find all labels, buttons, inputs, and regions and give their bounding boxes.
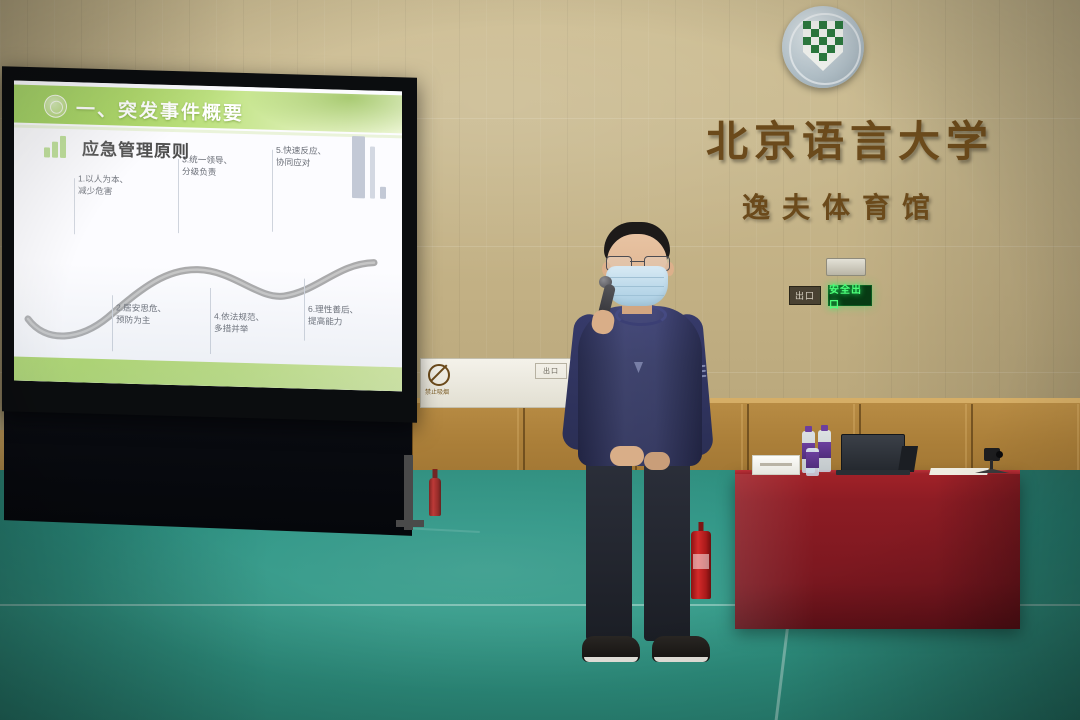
flow-wave-graphic <box>22 231 394 351</box>
presentation-slide: 一、突发事件概要 应急管理原则 <box>14 81 402 392</box>
small-exit-label: 出口 <box>543 366 559 376</box>
screen-leg <box>404 455 413 530</box>
papers-on-table <box>929 468 989 475</box>
no-smoking-label: 禁止吸烟 <box>425 387 449 396</box>
slide-section-title: 应急管理原则 <box>82 134 190 162</box>
label-tick <box>304 279 305 341</box>
principle-label-2: 2.居安思危、 预防为主 <box>116 301 166 327</box>
presenter-hand <box>610 446 644 466</box>
exit-sign-label: 出口 <box>795 289 815 302</box>
principle-label-6: 6.理性善后、 提高能力 <box>308 303 358 329</box>
camera-lens-icon <box>996 451 1003 458</box>
bar-chart-icon <box>44 135 70 158</box>
principle-label-5: 5.快速反应、 协同应对 <box>276 144 326 170</box>
photo-scene: 北京语言大学 逸夫体育馆 出口 安全出口 禁止吸烟 出口 <box>0 0 1080 720</box>
face-mask-icon <box>606 266 668 306</box>
slide-footer-bar <box>14 357 402 392</box>
presenter-legs <box>586 456 694 641</box>
exit-sign-plate: 出口 <box>789 286 821 305</box>
presenter-shoe <box>582 636 640 662</box>
illuminated-exit-label: 安全出口 <box>829 281 871 311</box>
presenter <box>560 206 730 676</box>
presenter-hand <box>644 452 670 470</box>
university-name-sign: 北京语言大学 <box>660 108 1040 169</box>
principle-label-1: 1.以人为本、 减少危害 <box>78 172 128 198</box>
presenter-table <box>735 474 1020 629</box>
laptop-base <box>836 470 910 475</box>
projection-screen-icon: 一、突发事件概要 应急管理原则 <box>2 66 417 423</box>
label-tick <box>178 159 179 233</box>
name-card-icon <box>752 455 800 475</box>
vertical-bars-icon <box>352 132 390 199</box>
university-crest-icon <box>782 6 864 88</box>
slide-header-title: 一、突发事件概要 <box>76 94 244 126</box>
water-bottle-icon <box>806 448 819 476</box>
label-tick <box>210 288 211 354</box>
screen-foot <box>396 520 424 527</box>
screen-surface: 一、突发事件概要 应急管理原则 <box>14 81 402 392</box>
water-bottle-icon <box>818 430 831 472</box>
fire-extinguisher-icon <box>429 478 441 516</box>
presenter-shoe <box>652 636 710 662</box>
seal-badge-icon <box>44 94 67 118</box>
wall-light-fixture <box>826 258 866 276</box>
laptop-icon <box>841 434 905 474</box>
principle-label-4: 4.依法规范、 多措并举 <box>214 310 264 336</box>
illuminated-exit-sign: 安全出口 <box>828 285 872 306</box>
principle-label-3: 3.统一领导、 分级负责 <box>182 153 232 179</box>
label-tick <box>272 150 273 232</box>
no-smoking-icon: 禁止吸烟 <box>424 362 450 396</box>
label-tick <box>112 295 113 351</box>
label-tick <box>74 178 75 234</box>
